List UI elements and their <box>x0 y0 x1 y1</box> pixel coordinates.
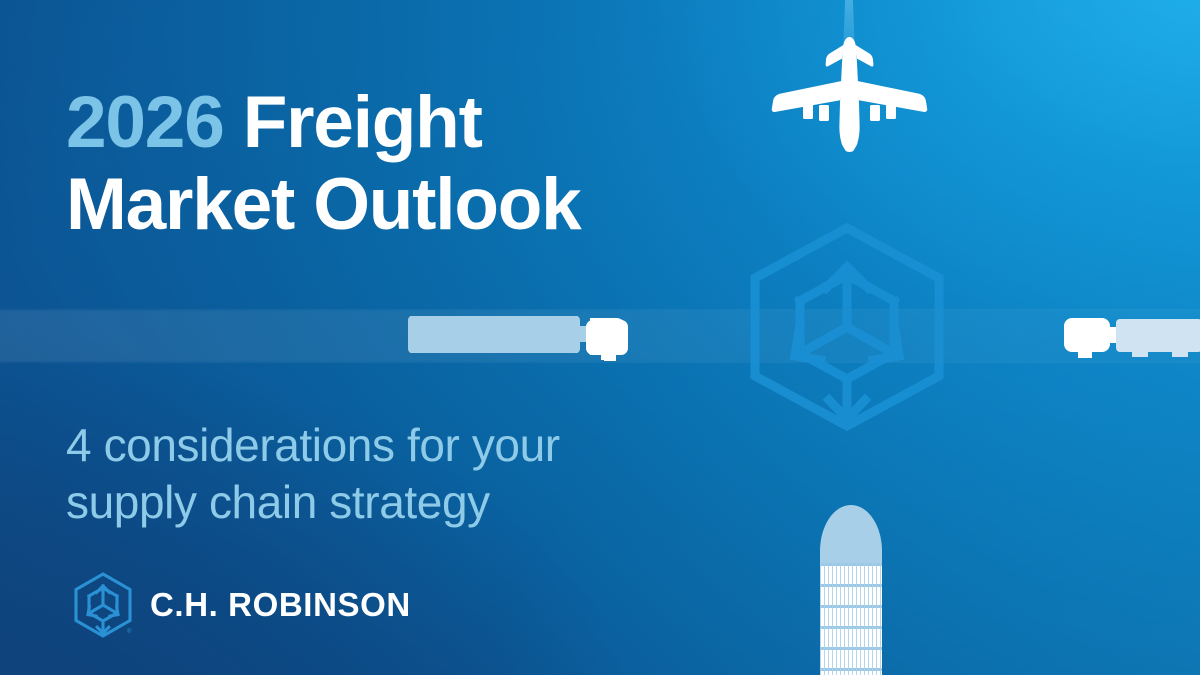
skyscraper-icon <box>820 505 882 675</box>
skyscraper-cap <box>820 505 882 567</box>
brand-logo: ® C.H. ROBINSON <box>72 572 411 638</box>
subtitle-line-2: supply chain strategy <box>66 474 706 531</box>
semi-truck-left-icon <box>408 308 628 364</box>
headline-year: 2026 <box>66 82 224 163</box>
page-title: 2026 Freight Market Outlook <box>66 82 706 246</box>
semi-truck-right-icon <box>1062 310 1200 362</box>
airplane-icon <box>767 33 932 153</box>
hexagon-cube-watermark-icon <box>743 222 951 432</box>
registered-trademark-mark: ® <box>127 628 132 635</box>
brand-name: C.H. ROBINSON <box>150 586 411 624</box>
skyscraper-body <box>820 563 882 675</box>
subtitle-line-1: 4 considerations for your <box>66 417 706 474</box>
page-subtitle: 4 considerations for your supply chain s… <box>66 417 706 531</box>
hexagon-cube-arrows-logo-icon: ® <box>72 572 134 638</box>
headline-line-2: Market Outlook <box>66 164 706 246</box>
headline-word-freight: Freight <box>243 82 482 163</box>
headline-line-1: 2026 Freight <box>66 82 706 164</box>
headline-spacer <box>224 82 243 163</box>
hero-banner: 2026 Freight Market Outlook 4 considerat… <box>0 0 1200 675</box>
